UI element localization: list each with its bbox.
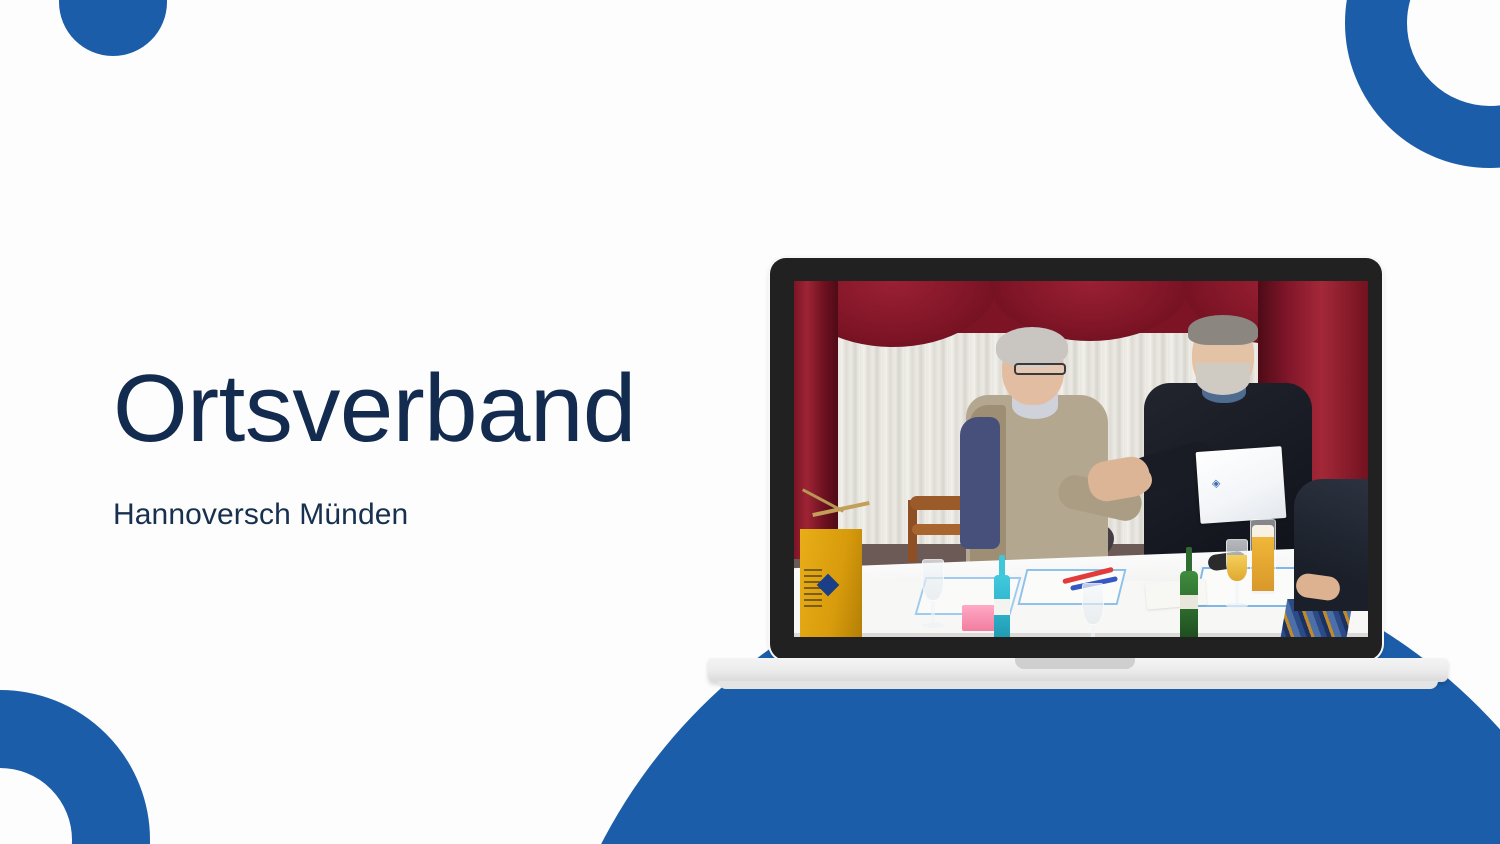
glass-bowl: [922, 559, 944, 601]
glass-stem: [1235, 581, 1239, 605]
laptop-mockup: ◈: [770, 258, 1382, 693]
person-left-sleeve: [960, 417, 1000, 549]
glass-bowl: [1082, 583, 1104, 625]
juice-fill: [1227, 555, 1247, 581]
beer-foam: [1252, 525, 1274, 537]
person-right-hair: [1188, 315, 1258, 345]
page-subtitle: Hannoversch Münden: [113, 498, 753, 532]
bottle-neck: [1186, 547, 1192, 573]
laptop-base-notch: [1015, 658, 1135, 669]
bottle-label: [1180, 595, 1198, 609]
green-beer-bottle: [1180, 547, 1198, 637]
glass-stem: [1091, 625, 1095, 637]
glasses-icon: [1014, 363, 1066, 375]
laptop-lid: ◈: [770, 258, 1382, 660]
glass-foot: [922, 623, 944, 628]
slide-text-block: Ortsverband Hannoversch Münden: [113, 360, 753, 532]
folder-logo-icon: ◈: [1211, 475, 1238, 490]
decorative-circle-top-left: [59, 0, 167, 56]
bottle-label: [994, 599, 1010, 615]
person-right-beard: [1196, 363, 1250, 395]
blue-water-bottle: [994, 555, 1010, 637]
person-left: [962, 333, 1112, 583]
laptop-screen: ◈: [794, 281, 1368, 637]
decorative-ring-top-right: [1345, 0, 1500, 168]
photo-handshake-ceremony: ◈: [794, 281, 1368, 637]
decorative-ring-bottom-left: [0, 690, 150, 844]
curtain-left: [794, 281, 838, 559]
presentation-slide: Ortsverband Hannoversch Münden: [0, 0, 1500, 844]
page-title: Ortsverband: [113, 360, 753, 458]
beer-glass: [1250, 519, 1276, 595]
certificate-folder: ◈: [1196, 446, 1287, 524]
bottle-neck: [999, 555, 1005, 577]
person-left-hair: [996, 327, 1068, 367]
beer-fill: [1252, 535, 1274, 591]
glass-stem: [931, 601, 935, 625]
glass-foot: [1226, 603, 1248, 608]
laptop-base-lip: [718, 681, 1438, 689]
person-seated-right: [1284, 479, 1368, 637]
